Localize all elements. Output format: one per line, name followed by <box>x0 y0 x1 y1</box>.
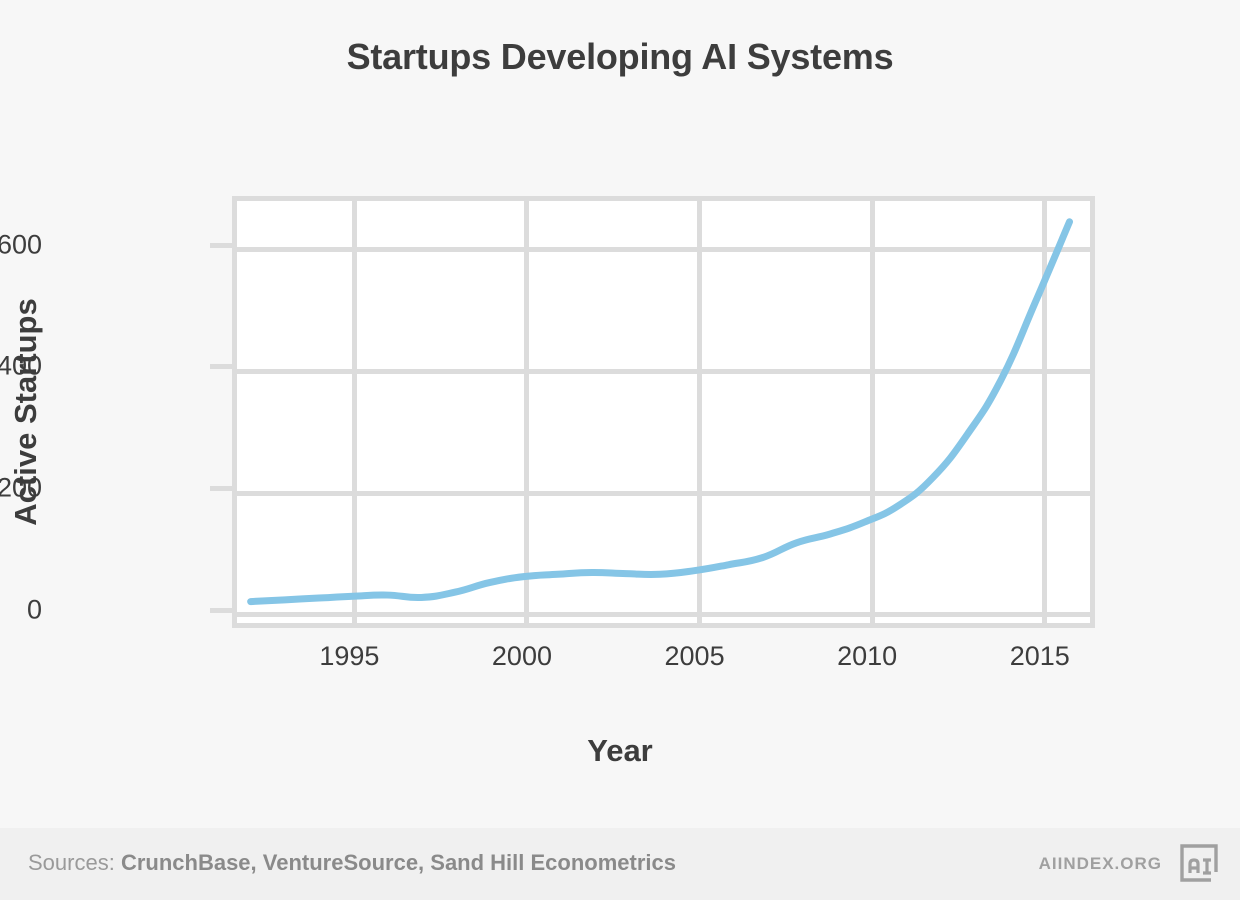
line-series-svg <box>237 201 1090 623</box>
x-tick-label: 2015 <box>1010 641 1070 672</box>
y-tick-mark <box>210 243 232 248</box>
y-tick-label: 400 <box>0 351 42 382</box>
y-tick-label: 0 <box>27 594 42 625</box>
page-title: Startups Developing AI Systems <box>0 36 1240 78</box>
x-tick-label: 1995 <box>319 641 379 672</box>
y-tick-label: 600 <box>0 229 42 260</box>
x-tick-label: 2000 <box>492 641 552 672</box>
aiindex-logo-icon <box>1178 842 1220 884</box>
y-tick-mark <box>210 608 232 613</box>
sources-names: CrunchBase, VentureSource, Sand Hill Eco… <box>121 850 676 875</box>
x-tick-label: 2010 <box>837 641 897 672</box>
x-tick-label: 2005 <box>665 641 725 672</box>
chart-figure: Startups Developing AI Systems Active St… <box>0 0 1240 900</box>
sources-label: Sources: <box>28 850 115 875</box>
brand-text: AIINDEX.ORG <box>1039 854 1162 874</box>
sources-text: Sources: CrunchBase, VentureSource, Sand… <box>28 850 676 876</box>
footer-bar: Sources: CrunchBase, VentureSource, Sand… <box>0 828 1240 900</box>
y-tick-label: 200 <box>0 473 42 504</box>
plot-area <box>232 196 1095 628</box>
line-series-path <box>251 222 1070 602</box>
y-tick-mark <box>210 364 232 369</box>
x-axis-title: Year <box>0 733 1240 769</box>
y-tick-mark <box>210 486 232 491</box>
